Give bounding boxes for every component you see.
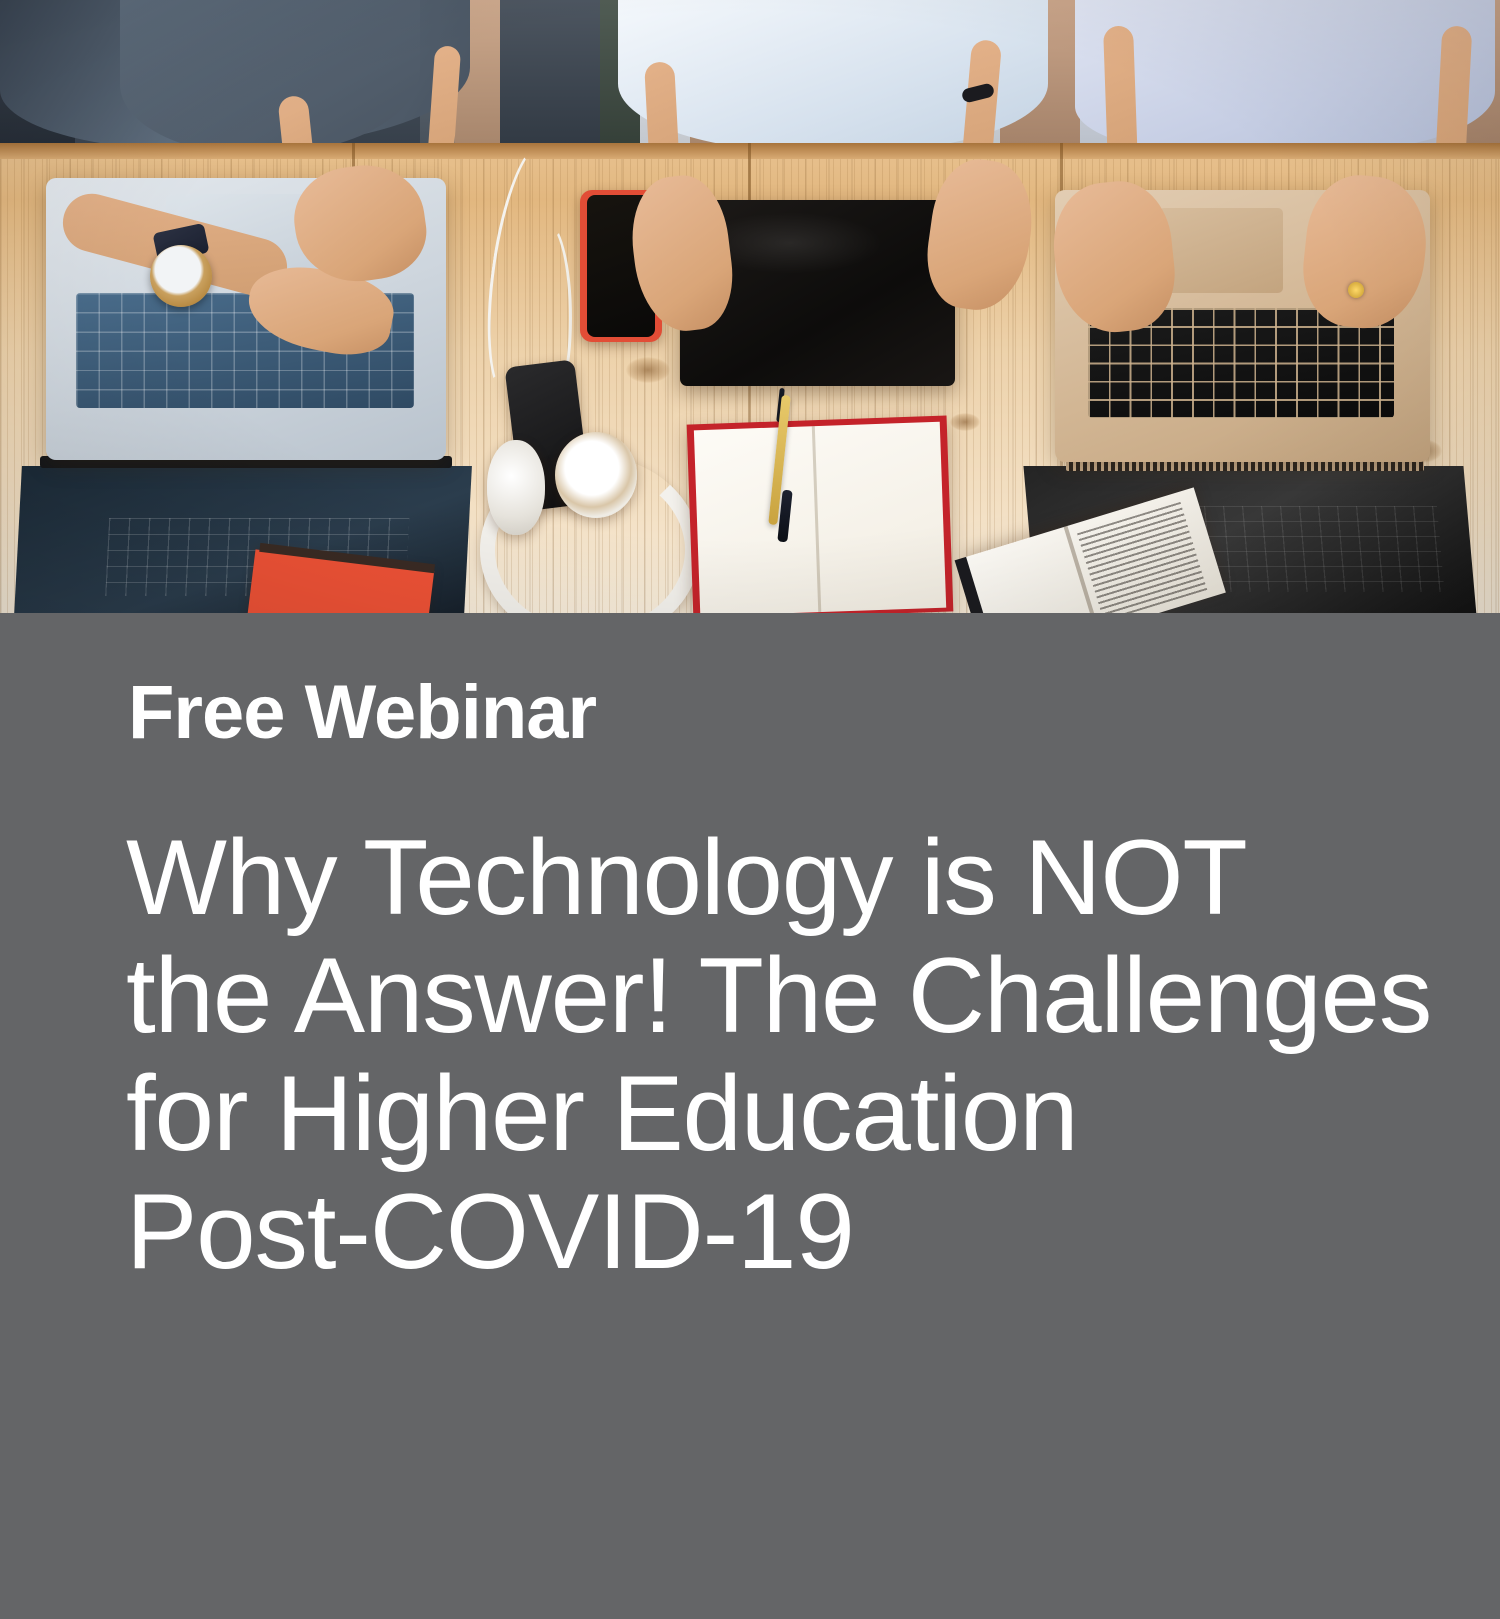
finger-ring [1348,282,1364,298]
headphones-earcup-left [487,440,545,535]
page-title: Why Technology is NOT the Answer! The Ch… [126,818,1376,1290]
notebook [687,416,954,613]
laptop-right-trackpad [1159,208,1283,293]
headline-line-3: for Higher Education [126,1054,1376,1172]
person-right-shirt [1075,0,1495,152]
webinar-promo-card: Free Webinar Why Technology is NOT the A… [0,0,1500,1619]
open-book-text [1077,502,1207,613]
wood-knot [950,413,980,431]
eyebrow-label: Free Webinar [128,675,596,751]
banner-photo [0,0,1500,613]
wood-knot [626,357,670,383]
headline-line-4: Post-COVID-19 [126,1172,1376,1290]
headphones-earcup-right [555,432,637,518]
wristwatch [150,245,212,307]
headline-line-1: Why Technology is NOT [126,818,1376,936]
headline-line-2: the Answer! The Challenges [126,936,1376,1054]
